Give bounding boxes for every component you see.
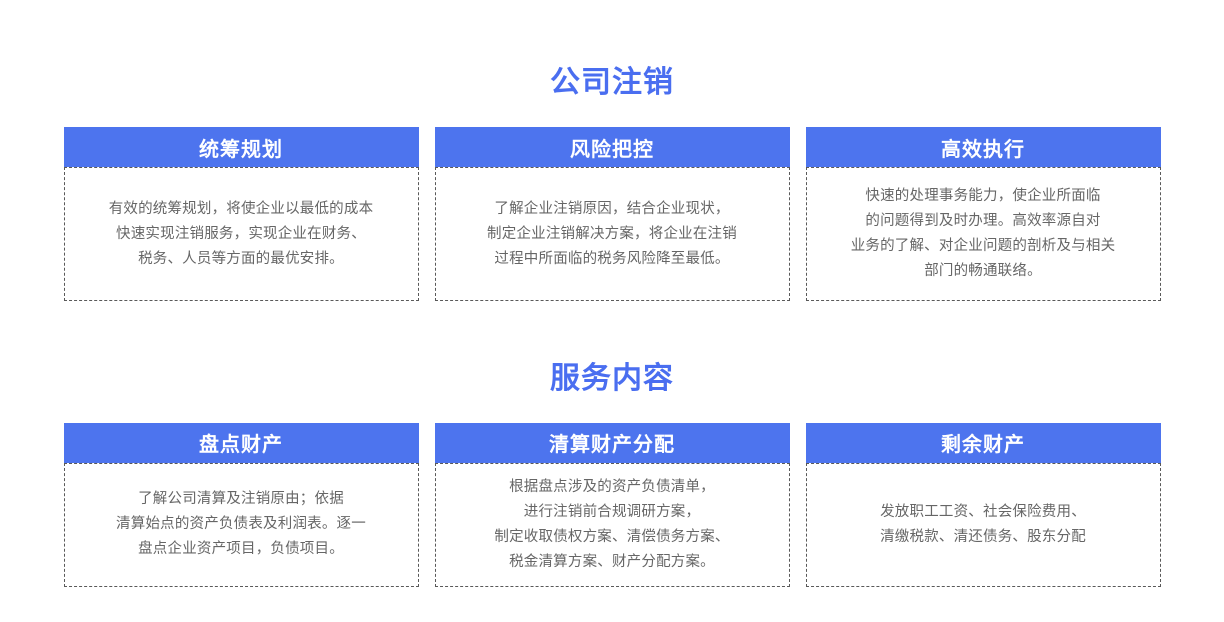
page-title-company-deregistration: 公司注销 bbox=[0, 20, 1224, 98]
feature-card-body-residual-assets: 发放职工工资、社会保险费用、 清缴税款、清还债务、股东分配 bbox=[806, 463, 1161, 587]
feature-card-text-efficient-execution: 快速的处理事务能力，使企业所面临 的问题得到及时办理。高效率源自对 业务的了解、… bbox=[851, 184, 1116, 284]
feature-card-header-overall-planning: 统筹规划 bbox=[64, 127, 419, 167]
feature-card-residual-assets[interactable]: 剩余财产 发放职工工资、社会保险费用、 清缴税款、清还债务、股东分配 bbox=[806, 423, 1161, 587]
feature-card-header-asset-inventory: 盘点财产 bbox=[64, 423, 419, 463]
feature-card-body-overall-planning: 有效的统筹规划，将使企业以最低的成本 快速实现注销服务，实现企业在财务、 税务、… bbox=[64, 167, 419, 301]
feature-card-liquidation-distribution[interactable]: 清算财产分配 根据盘点涉及的资产负债清单， 进行注销前合规调研方案， 制定收取债… bbox=[435, 423, 790, 587]
feature-card-row-advantages: 统筹规划 有效的统筹规划，将使企业以最低的成本 快速实现注销服务，实现企业在财务… bbox=[64, 127, 1161, 301]
feature-card-text-risk-control: 了解企业注销原因，结合企业现状， 制定企业注销解决方案，将企业在注销 过程中所面… bbox=[487, 197, 737, 272]
feature-card-header-liquidation-distribution: 清算财产分配 bbox=[435, 423, 790, 463]
feature-card-header-efficient-execution: 高效执行 bbox=[806, 127, 1161, 167]
feature-card-body-efficient-execution: 快速的处理事务能力，使企业所面临 的问题得到及时办理。高效率源自对 业务的了解、… bbox=[806, 167, 1161, 301]
company-deregistration-page: 公司注销 统筹规划 有效的统筹规划，将使企业以最低的成本 快速实现注销服务，实现… bbox=[0, 20, 1224, 622]
feature-card-body-asset-inventory: 了解公司清算及注销原由；依据 清算始点的资产负债表及利润表。逐一 盘点企业资产项… bbox=[64, 463, 419, 587]
page-title-service-content: 服务内容 bbox=[0, 326, 1224, 394]
feature-card-text-liquidation-distribution: 根据盘点涉及的资产负债清单， 进行注销前合规调研方案， 制定收取债权方案、清偿债… bbox=[494, 475, 729, 575]
feature-card-body-risk-control: 了解企业注销原因，结合企业现状， 制定企业注销解决方案，将企业在注销 过程中所面… bbox=[435, 167, 790, 301]
feature-card-risk-control[interactable]: 风险把控 了解企业注销原因，结合企业现状， 制定企业注销解决方案，将企业在注销 … bbox=[435, 127, 790, 301]
feature-card-header-risk-control: 风险把控 bbox=[435, 127, 790, 167]
feature-card-asset-inventory[interactable]: 盘点财产 了解公司清算及注销原由；依据 清算始点的资产负债表及利润表。逐一 盘点… bbox=[64, 423, 419, 587]
feature-card-header-residual-assets: 剩余财产 bbox=[806, 423, 1161, 463]
feature-card-text-residual-assets: 发放职工工资、社会保险费用、 清缴税款、清还债务、股东分配 bbox=[880, 500, 1086, 550]
feature-card-text-asset-inventory: 了解公司清算及注销原由；依据 清算始点的资产负债表及利润表。逐一 盘点企业资产项… bbox=[116, 487, 366, 562]
feature-card-overall-planning[interactable]: 统筹规划 有效的统筹规划，将使企业以最低的成本 快速实现注销服务，实现企业在财务… bbox=[64, 127, 419, 301]
feature-card-text-overall-planning: 有效的统筹规划，将使企业以最低的成本 快速实现注销服务，实现企业在财务、 税务、… bbox=[109, 197, 374, 272]
feature-card-row-services: 盘点财产 了解公司清算及注销原由；依据 清算始点的资产负债表及利润表。逐一 盘点… bbox=[64, 423, 1161, 587]
feature-card-body-liquidation-distribution: 根据盘点涉及的资产负债清单， 进行注销前合规调研方案， 制定收取债权方案、清偿债… bbox=[435, 463, 790, 587]
feature-card-efficient-execution[interactable]: 高效执行 快速的处理事务能力，使企业所面临 的问题得到及时办理。高效率源自对 业… bbox=[806, 127, 1161, 301]
